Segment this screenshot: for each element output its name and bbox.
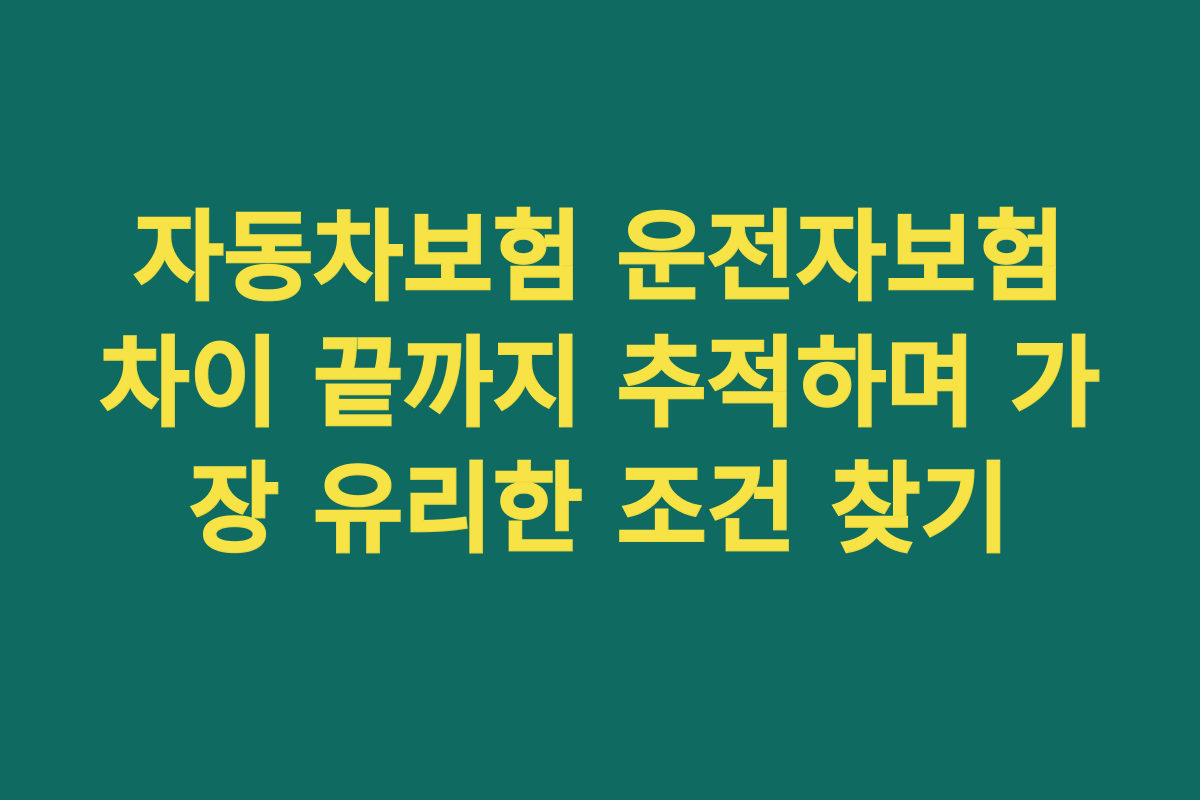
headline-line-2: 차이 끝까지 추적하며 가 — [100, 321, 1100, 447]
thumbnail-card: 자동차보험 운전자보험 차이 끝까지 추적하며 가 장 유리한 조건 찾기 — [0, 0, 1200, 800]
headline-line-3: 장 유리한 조건 찾기 — [190, 447, 1011, 573]
headline-line-1: 자동차보험 운전자보험 — [134, 195, 1066, 321]
headline-block: 자동차보험 운전자보험 차이 끝까지 추적하며 가 장 유리한 조건 찾기 — [40, 195, 1160, 573]
